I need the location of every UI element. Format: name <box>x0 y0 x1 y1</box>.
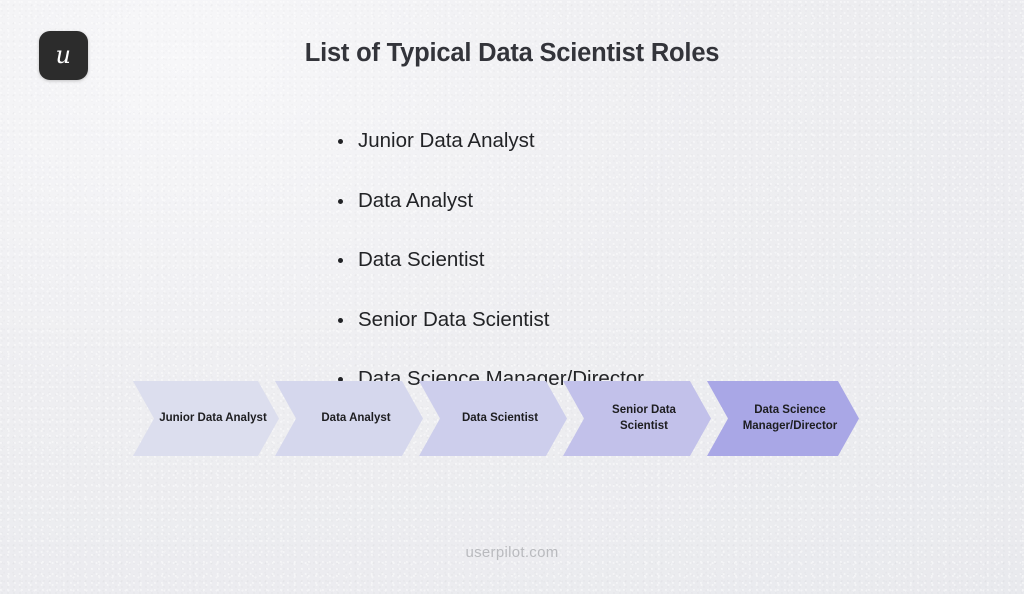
chevron-step-label: Senior Data Scientist <box>592 403 682 433</box>
list-item: Junior Data Analyst <box>358 131 644 152</box>
chevron-step-2: Data Analyst <box>275 381 423 456</box>
chevron-step-5: Data Science Manager/Director <box>707 381 859 456</box>
chevron-step-4: Senior Data Scientist <box>563 381 711 456</box>
list-item: Data Scientist <box>358 250 644 271</box>
chevron-step-label: Data Analyst <box>301 411 396 426</box>
slide-canvas: u List of Typical Data Scientist Roles J… <box>0 0 1024 594</box>
footer-watermark: userpilot.com <box>0 544 1024 561</box>
chevron-step-3: Data Scientist <box>419 381 567 456</box>
chevron-step-label: Data Scientist <box>442 411 544 426</box>
page-title: List of Typical Data Scientist Roles <box>0 39 1024 68</box>
list-item: Data Analyst <box>358 191 644 212</box>
career-progression-chevron-diagram: Junior Data Analyst Data Analyst Data Sc… <box>133 381 859 456</box>
chevron-step-label: Data Science Manager/Director <box>723 403 844 433</box>
list-item: Senior Data Scientist <box>358 310 644 331</box>
roles-bullet-list: Junior Data Analyst Data Analyst Data Sc… <box>336 131 644 390</box>
chevron-step-1: Junior Data Analyst <box>133 381 279 456</box>
chevron-step-label: Junior Data Analyst <box>139 411 273 426</box>
